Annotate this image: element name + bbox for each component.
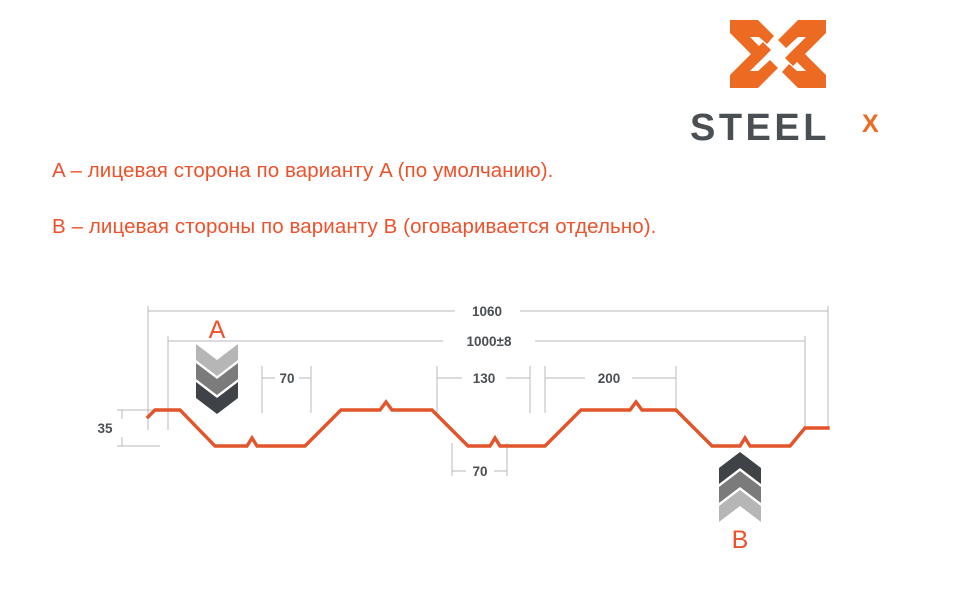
- marker-a-label: A: [209, 316, 226, 344]
- marker-b: B: [719, 452, 761, 554]
- brand-logo: STEEL X: [690, 14, 905, 144]
- dimension-label-rib-pitch-200: 200: [598, 371, 621, 386]
- profile-cross-section-path: [148, 402, 828, 446]
- marker-a: A: [196, 316, 238, 414]
- dimension-profile-height: [117, 410, 160, 446]
- steelx-wordmark: STEEL X: [690, 104, 905, 150]
- wordmark-steel-text: STEEL: [690, 107, 830, 149]
- dimension-label-effective-width: 1000±8: [467, 334, 512, 349]
- dimension-label-rib-pitch-130: 130: [473, 371, 496, 386]
- dimension-label-valley-width: 70: [472, 464, 487, 479]
- profile-technical-drawing: 1060 1000±8 70 130 200 70 35 A B: [0, 280, 970, 570]
- wordmark-x-text: X: [862, 110, 879, 138]
- steelx-x-logo-icon: [728, 14, 828, 94]
- legend-line-variant-a: A – лицевая сторона по варианту A (по ум…: [52, 159, 553, 183]
- marker-b-label: B: [732, 526, 749, 554]
- dimension-label-overall-width: 1060: [472, 304, 502, 319]
- dimension-label-profile-height: 35: [97, 421, 113, 436]
- legend-line-variant-b: B – лицевая стороны по варианту B (огова…: [52, 215, 656, 239]
- dimension-label-rib-crest-width: 70: [279, 371, 294, 386]
- dimension-overall-width: [148, 306, 828, 430]
